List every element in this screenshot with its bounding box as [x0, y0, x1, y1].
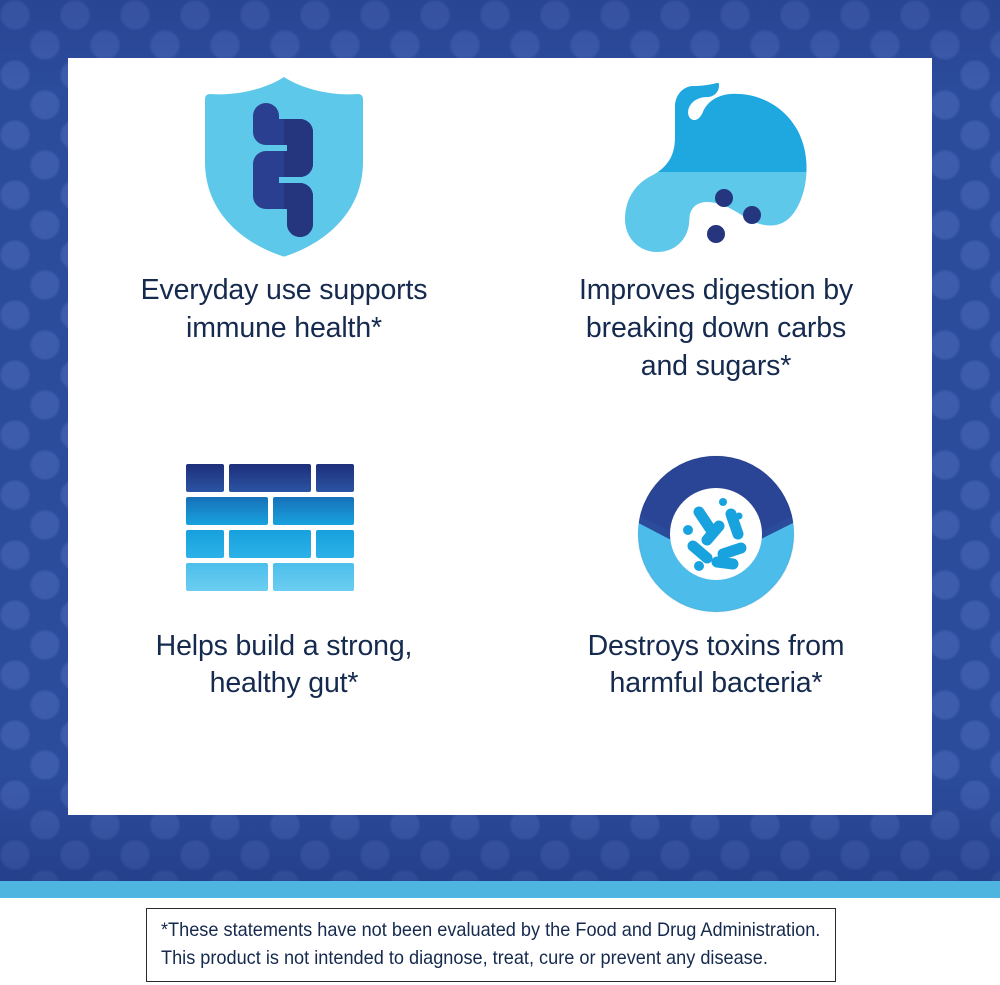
benefit-caption: Destroys toxins from harmful bacteria* — [588, 628, 845, 704]
stomach-particle — [707, 225, 725, 243]
disclaimer-line-2: This product is not intended to diagnose… — [161, 945, 775, 973]
benefit-item-immune: Everyday use supports immune health* — [68, 58, 500, 437]
bacteria-shield-icon-container — [635, 447, 797, 622]
shield-gut-icon — [196, 74, 372, 259]
benefit-caption: Improves digestion by breaking down carb… — [579, 272, 853, 386]
brick-wall-icon — [184, 460, 384, 608]
benefits-grid: Everyday use supports immune health* — [68, 58, 932, 815]
stomach-icon — [621, 76, 811, 256]
bacteria-shield-icon — [635, 454, 797, 614]
infographic-page: Everyday use supports immune health* — [0, 0, 1000, 985]
disclaimer-box: *These statements have not been evaluate… — [146, 908, 836, 982]
white-content-card: Everyday use supports immune health* — [68, 58, 932, 815]
brick-wall-icon-container — [184, 447, 384, 622]
footer-area: *These statements have not been evaluate… — [0, 898, 1000, 985]
light-blue-divider-strip — [0, 881, 1000, 898]
benefit-item-gut-wall: Helps build a strong, healthy gut* — [68, 437, 500, 816]
disclaimer-line-1: *These statements have not been evaluate… — [161, 917, 775, 945]
benefit-caption: Everyday use supports immune health* — [141, 272, 428, 348]
shield-gut-icon-container — [196, 66, 372, 266]
benefit-item-digestion: Improves digestion by breaking down carb… — [500, 58, 932, 437]
stomach-particle — [715, 189, 733, 207]
benefit-item-toxins: Destroys toxins from harmful bacteria* — [500, 437, 932, 816]
stomach-particle — [743, 206, 761, 224]
benefit-caption: Helps build a strong, healthy gut* — [156, 628, 413, 704]
stomach-icon-container — [621, 66, 811, 266]
